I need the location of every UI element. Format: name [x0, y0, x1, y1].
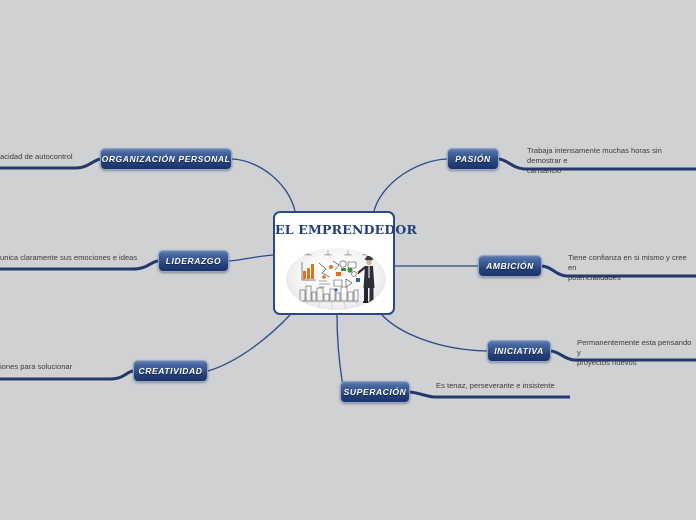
leaf-text-creatividad: iones para solucionar [0, 362, 128, 372]
branch-button-ambicion[interactable]: AMBICIÓN [478, 255, 542, 277]
connector-liderazgo [229, 255, 273, 261]
branch-label-organizacion-personal: ORGANIZACIÓN PERSONAL [102, 154, 231, 164]
connector-iniciativa [382, 315, 487, 351]
branch-button-organizacion-personal[interactable]: ORGANIZACIÓN PERSONAL [100, 148, 232, 170]
branch-label-pasion: PASIÓN [455, 154, 491, 164]
leaf-text-superacion: Es tenaz, perseverante e insistente [436, 381, 576, 391]
entrepreneur-doodle-illustration [286, 248, 386, 310]
leaf-text-liderazgo: unica claramente sus emociones e ideas [0, 253, 152, 263]
branch-label-iniciativa: INICIATIVA [494, 346, 544, 356]
branch-label-ambicion: AMBICIÓN [486, 261, 534, 271]
branch-button-liderazgo[interactable]: LIDERAZGO [158, 250, 229, 272]
page-title: EL EMPRENDEDOR [275, 222, 393, 237]
leaf-line-creatividad [0, 371, 133, 379]
connector-organizacion-personal [232, 159, 295, 211]
branch-label-creatividad: CREATIVIDAD [138, 366, 202, 376]
branch-button-iniciativa[interactable]: INICIATIVA [487, 340, 551, 362]
leaf-text-ambicion: Tiene confianza en si mismo y cree en po… [568, 253, 696, 283]
leaf-line-superacion [410, 392, 570, 397]
connector-pasion [374, 159, 447, 211]
branch-button-creatividad[interactable]: CREATIVIDAD [133, 360, 208, 382]
leaf-text-pasion: Trabaja intensamente muchas horas sin de… [527, 146, 696, 176]
connector-creatividad [208, 315, 290, 371]
branch-label-superacion: SUPERACIÓN [344, 387, 407, 397]
branch-button-superacion[interactable]: SUPERACIÓN [340, 381, 410, 403]
mindmap-canvas: EL EMPRENDEDOR [0, 0, 696, 520]
leaf-text-organizacion-personal: acidad de autocontrol [0, 152, 96, 162]
branch-button-pasion[interactable]: PASIÓN [447, 148, 499, 170]
central-node[interactable]: EL EMPRENDEDOR [273, 211, 395, 315]
leaf-text-iniciativa: Permanentemente esta pensando y proyecto… [577, 338, 696, 368]
branch-label-liderazgo: LIDERAZGO [166, 256, 221, 266]
